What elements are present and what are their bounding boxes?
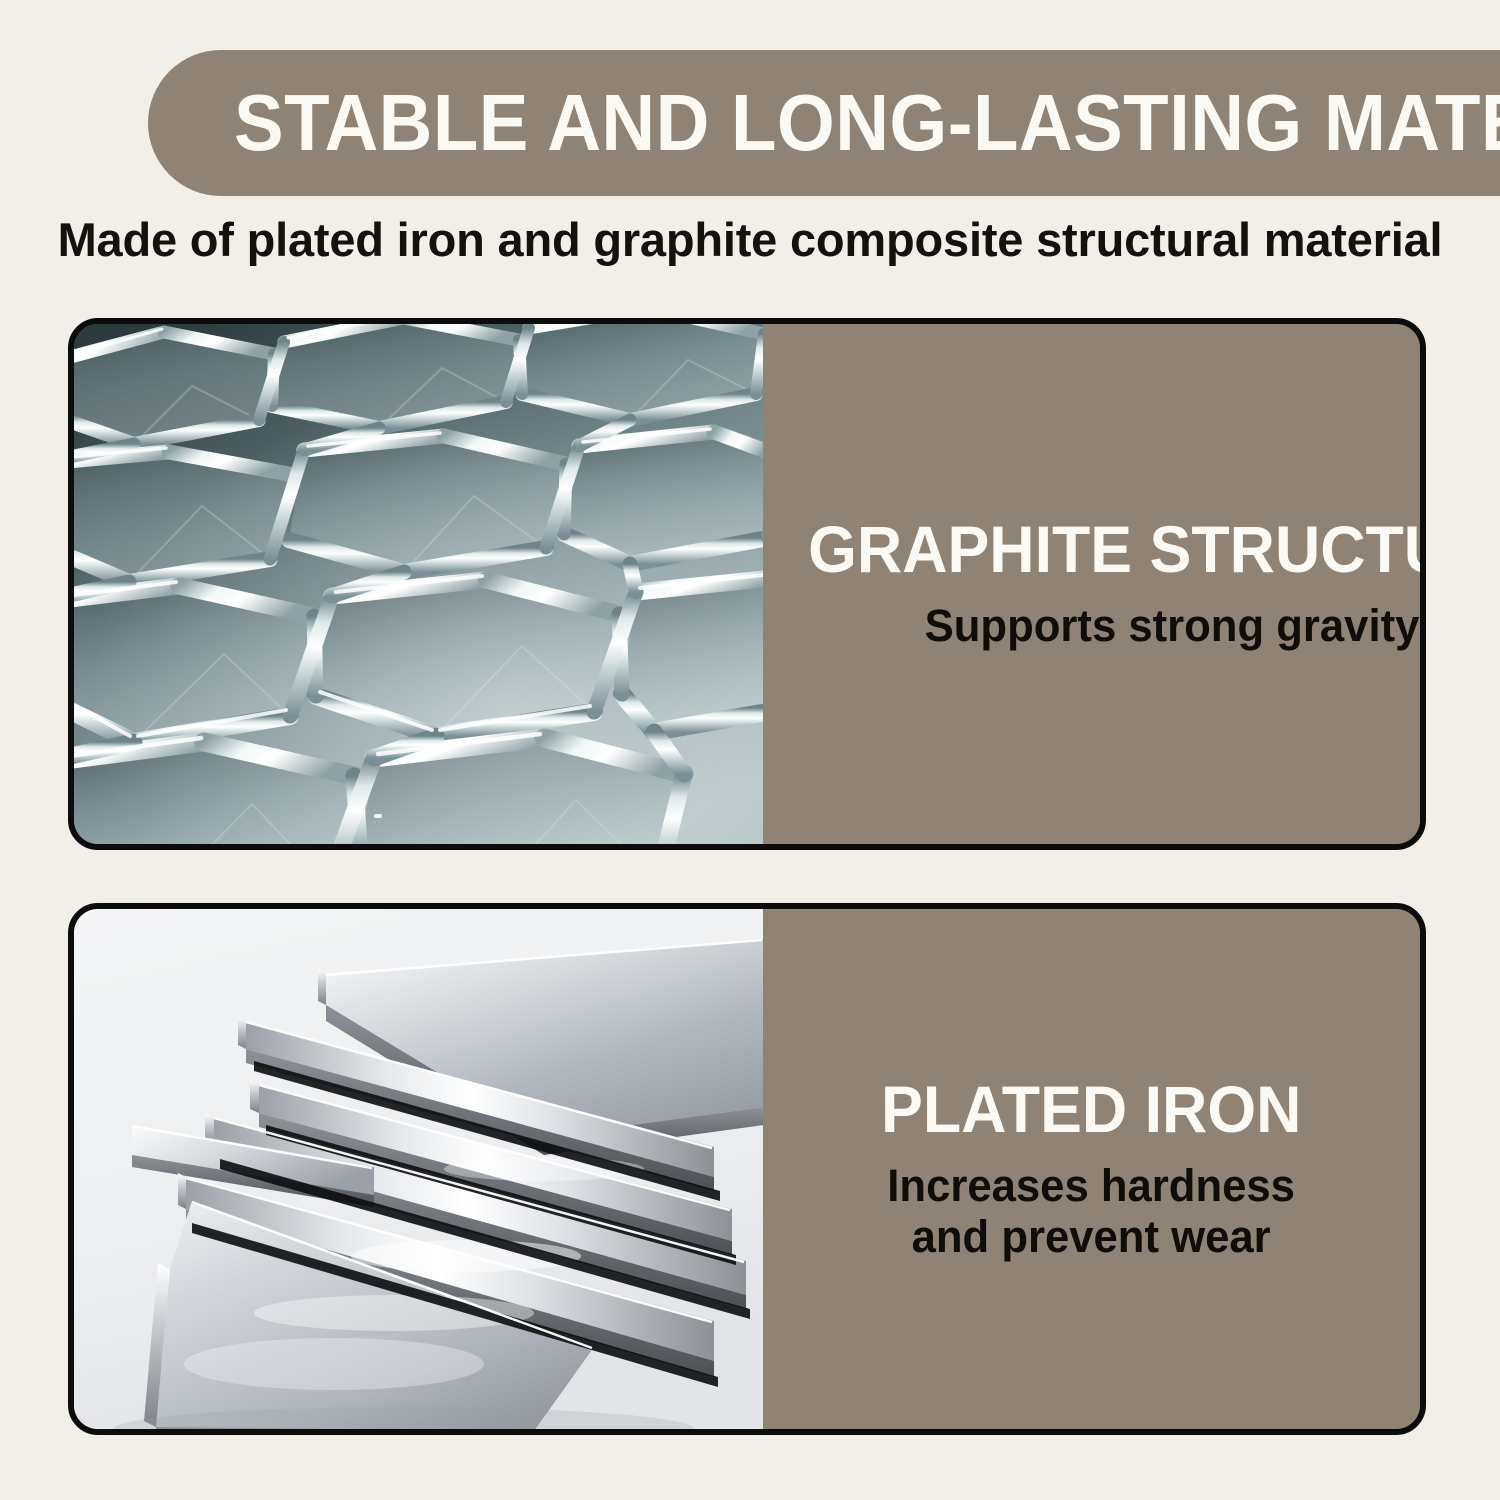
feature-panel-plated-iron: PLATED IRON Increases hardness and preve…: [68, 903, 1426, 1435]
graphite-heading: GRAPHITE STRUCTURE: [808, 516, 1426, 583]
page-title: STABLE AND LONG-LASTING MATERIAL: [234, 83, 1500, 163]
metal-sheets-graphic: [74, 909, 763, 1429]
plated-iron-subtext: Increases hardness and prevent wear: [888, 1161, 1296, 1262]
stacked-metal-sheets-image: [74, 909, 763, 1429]
graphite-honeycomb-lattice-image: [74, 324, 763, 844]
plated-iron-subtext-line-1: Increases hardness: [888, 1161, 1296, 1211]
honeycomb-lattice-graphic: [74, 324, 763, 844]
plated-iron-subtext-line-2: and prevent wear: [888, 1212, 1296, 1262]
plated-iron-text-block: PLATED IRON Increases hardness and preve…: [763, 909, 1420, 1429]
feature-panel-graphite: GRAPHITE STRUCTURE Supports strong gravi…: [68, 318, 1426, 850]
page-subtitle: Made of plated iron and graphite composi…: [0, 212, 1500, 267]
plated-iron-heading: PLATED IRON: [881, 1076, 1301, 1143]
graphite-text-block: GRAPHITE STRUCTURE Supports strong gravi…: [763, 324, 1426, 844]
header-banner: STABLE AND LONG-LASTING MATERIAL: [148, 50, 1500, 196]
graphite-subtext: Supports strong gravity: [925, 601, 1420, 651]
